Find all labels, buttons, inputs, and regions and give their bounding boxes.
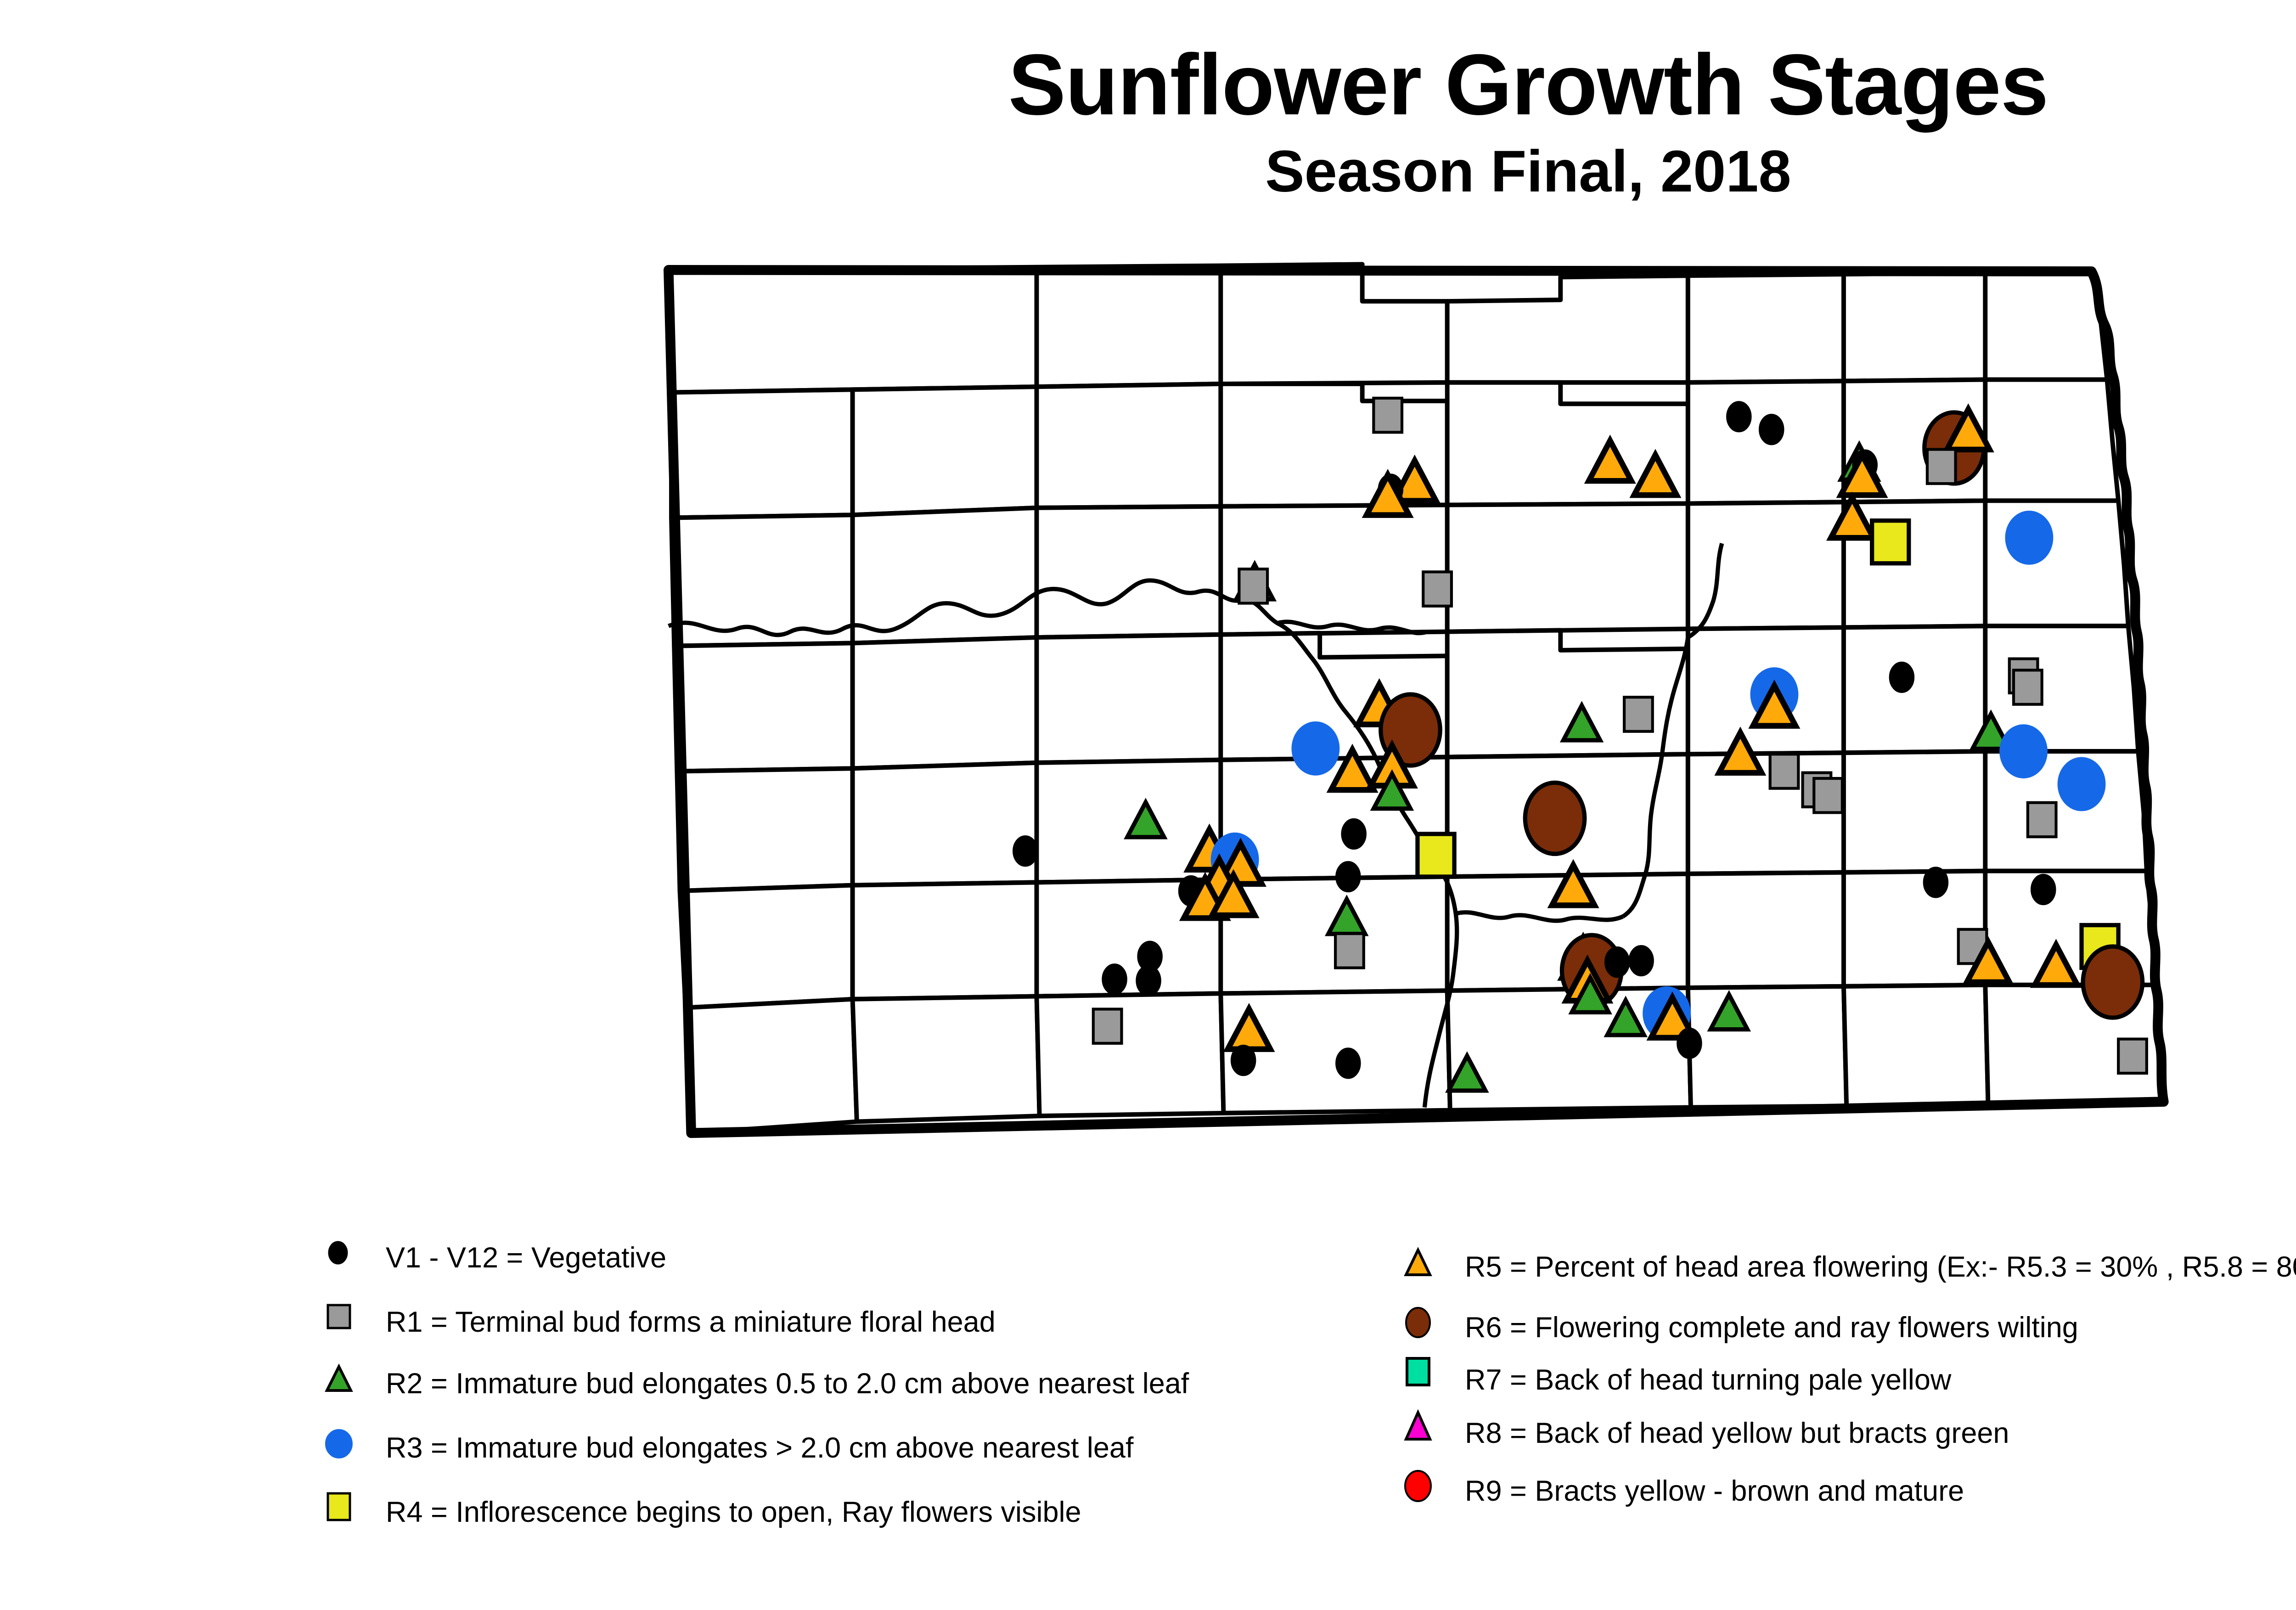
- map-marker-v: [1728, 402, 1750, 431]
- map-marker-v: [1925, 868, 1947, 896]
- map-svg: [569, 216, 2268, 1199]
- map-marker-r1: [2118, 1039, 2147, 1073]
- map-marker-r4: [1872, 521, 1909, 563]
- map-marker-r1: [1093, 1009, 1122, 1043]
- map-marker-r1: [2014, 670, 2042, 704]
- map-marker-r3: [2059, 759, 2105, 810]
- map-marker-r1: [1335, 934, 1364, 968]
- title-block: Sunflower Growth Stages Season Final, 20…: [0, 41, 2296, 201]
- map-marker-r1: [1239, 569, 1267, 603]
- legend-label-v: V1 - V12 = Vegetative: [386, 1244, 666, 1272]
- map-marker-r1: [1624, 697, 1653, 731]
- map-marker-v: [1137, 966, 1159, 995]
- map-marker-v: [1606, 948, 1628, 976]
- map-marker-v: [1891, 663, 1913, 692]
- r1-square-icon: [321, 1300, 372, 1350]
- map-marker-v: [1678, 1029, 1700, 1058]
- map-marker-r4: [1418, 834, 1454, 877]
- r6-circle-icon: [1401, 1305, 1451, 1356]
- map-marker-r3: [1293, 723, 1339, 774]
- legend-label-r5: R5 = Percent of head area flowering (Ex:…: [1465, 1253, 2296, 1282]
- map-marker-r3: [2001, 726, 2046, 777]
- map-marker-v: [1337, 862, 1359, 891]
- map-marker-v: [1232, 1046, 1255, 1075]
- map-marker-v: [1337, 1049, 1359, 1077]
- map-marker-r1: [1814, 778, 1842, 812]
- r5-triangle-icon: [1401, 1248, 1451, 1299]
- map-marker-v: [2032, 875, 2054, 904]
- legend-label-r4: R4 = Inflorescence begins to open, Ray f…: [386, 1498, 1081, 1527]
- r3-circle-icon: [321, 1427, 372, 1478]
- r9-circle-icon: [1401, 1469, 1451, 1519]
- legend-label-r3: R3 = Immature bud elongates > 2.0 cm abo…: [386, 1434, 1133, 1463]
- r2-triangle-icon: [321, 1363, 372, 1413]
- legend: V1 - V12 = Vegetative R1 = Terminal bud …: [321, 1235, 2296, 1557]
- map-marker-r1: [1770, 754, 1799, 788]
- map-marker-r1: [1927, 450, 1956, 484]
- vegetative-circle-icon: [321, 1235, 372, 1286]
- r4-square-icon: [321, 1491, 372, 1541]
- map-marker-v: [1760, 415, 1783, 444]
- legend-label-r1: R1 = Terminal bud forms a miniature flor…: [386, 1308, 996, 1337]
- map-marker-r3: [2007, 512, 2052, 563]
- page-subtitle: Season Final, 2018: [0, 142, 2296, 201]
- legend-label-r6: R6 = Flowering complete and ray flowers …: [1465, 1313, 2078, 1342]
- map-marker-v: [1343, 820, 1365, 848]
- legend-label-r8: R8 = Back of head yellow but bracts gree…: [1465, 1419, 2009, 1448]
- screenshot-root: Sunflower Growth Stages Season Final, 20…: [0, 0, 2296, 1610]
- north-dakota-map: [569, 216, 2268, 1199]
- map-marker-v: [1630, 946, 1652, 975]
- map-marker-r1: [1423, 572, 1452, 606]
- map-marker-r6: [1525, 782, 1585, 854]
- map-marker-r1: [2028, 803, 2056, 837]
- map-marker-v: [1014, 837, 1036, 865]
- r8-triangle-icon: [1401, 1411, 1451, 1461]
- r7-square-icon: [1401, 1356, 1451, 1406]
- map-marker-r6: [2083, 946, 2143, 1018]
- map-marker-v: [1103, 965, 1125, 993]
- legend-label-r9: R9 = Bracts yellow - brown and mature: [1465, 1477, 1964, 1506]
- legend-label-r2: R2 = Immature bud elongates 0.5 to 2.0 c…: [386, 1369, 1189, 1398]
- legend-label-r7: R7 = Back of head turning pale yellow: [1465, 1366, 1951, 1395]
- page-title: Sunflower Growth Stages: [0, 41, 2296, 128]
- map-marker-r1: [1373, 398, 1402, 432]
